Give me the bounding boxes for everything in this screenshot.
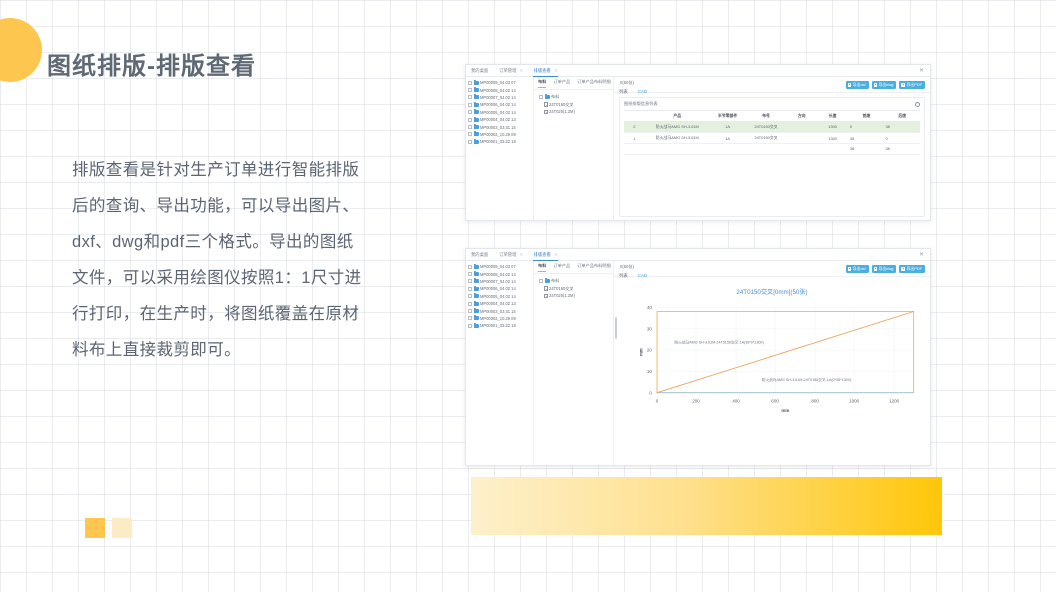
fabric-tree-top: 布料 24T0150交叉 24T020(1.2M) — [534, 90, 613, 116]
file-icon — [544, 102, 548, 107]
app-tab-desktop[interactable]: 我的桌面 — [470, 65, 489, 76]
expand-icon[interactable] — [468, 294, 472, 298]
expand-icon[interactable] — [468, 95, 472, 99]
chart-annotation-lower: 防火战马AMG SH-3.61M-24T0150交叉-1A(0*38*1300) — [762, 377, 851, 382]
x-tick-600: 600 — [771, 399, 779, 404]
export-pdf-button[interactable]: 导出PDF — [899, 265, 925, 273]
app-tabbar-bottom: 我的桌面 订单管理 × 排版查看 × — [466, 249, 930, 261]
table-row[interactable]: 1 防火战马AMG SH-3.61M 1A 24T0150交叉 1300 38 … — [624, 132, 920, 143]
cell-fabric-no: 24T0150交叉 — [745, 132, 786, 143]
expand-icon[interactable] — [539, 279, 543, 283]
list-item-label: MP00007_04.02 14 — [480, 279, 516, 284]
list-item[interactable]: MP00007_04.02 14 — [468, 278, 533, 285]
list-item[interactable]: MP00004_04.02 13 — [468, 300, 533, 307]
layout-table: 产品 半节零部件 布号 方向 长度 前废 后废 2 防火战马AMG SH-3.6 — [624, 110, 920, 155]
export-dwg-button[interactable]: 导出dwg — [872, 81, 897, 89]
fabric-tabs-bottom: 布料 订单产品 订单产品布料明细 — [534, 261, 613, 274]
expand-icon[interactable] — [468, 118, 472, 122]
y-axis-label: mm — [639, 348, 644, 356]
th-back-waste: 后废 — [884, 110, 920, 121]
app-tab-label: 我的桌面 — [471, 68, 488, 73]
y-tick-20: 20 — [647, 348, 653, 353]
cell-direction — [787, 144, 817, 154]
tab-fabric[interactable]: 布料 — [538, 263, 546, 271]
folder-icon — [474, 302, 479, 306]
folder-icon — [474, 324, 479, 328]
panel-body-bottom: MP00009_04.03 07 MP00008_04.02 14 MP0000… — [466, 261, 930, 465]
expand-icon[interactable] — [468, 324, 472, 328]
tree-child[interactable]: 24T020(1.2M) — [539, 292, 613, 299]
th-length: 长度 — [816, 110, 849, 121]
list-item[interactable]: MP00001_03.22 18 — [468, 322, 533, 329]
tab-order-product[interactable]: 订单产品 — [553, 263, 570, 271]
tab-list-view[interactable]: 列表 — [619, 89, 628, 95]
decorative-square-solid — [85, 518, 105, 538]
expand-icon[interactable] — [468, 309, 472, 313]
cell-index — [624, 144, 645, 154]
app-tab-layout-view[interactable]: 排版查看 × — [533, 65, 558, 76]
th-fabric-no: 布号 — [745, 110, 786, 121]
app-tab-order-mgmt[interactable]: 订单管理 × — [498, 249, 523, 260]
decorative-square-pale — [112, 518, 132, 538]
list-item-label: MP00004_04.02 13 — [480, 117, 516, 122]
expand-icon[interactable] — [468, 316, 472, 320]
folder-icon — [474, 95, 479, 99]
close-icon[interactable]: × — [554, 252, 557, 257]
x-tick-0: 0 — [656, 399, 659, 404]
cell-back-waste: 0 — [884, 132, 920, 143]
folder-icon — [474, 118, 479, 122]
sheet-count-label: 0(50张) — [620, 264, 634, 270]
list-item-label: MP00006_04.02 14 — [480, 286, 516, 291]
cell-part — [710, 144, 746, 154]
folder-icon — [474, 316, 479, 320]
folder-icon — [474, 125, 479, 129]
cell-direction — [787, 132, 817, 143]
expand-icon[interactable] — [468, 110, 472, 114]
expand-icon[interactable] — [468, 272, 472, 276]
list-item[interactable]: MP00001_03.22 18 — [468, 138, 533, 145]
chart-svg: 40 30 20 10 0 0 200 400 600 800 1000 120… — [618, 296, 926, 414]
list-item[interactable]: MP00009_04.03 07 — [468, 79, 533, 86]
export-pdf-button[interactable]: 导出PDF — [899, 81, 925, 89]
th-part: 半节零部件 — [710, 110, 746, 121]
export-pdf-label: 导出PDF — [906, 83, 922, 87]
folder-icon — [474, 287, 479, 291]
close-icon[interactable]: × — [520, 252, 523, 257]
folder-icon — [474, 110, 479, 114]
expand-icon[interactable] — [468, 81, 472, 85]
folder-icon — [474, 81, 479, 85]
folder-icon — [545, 279, 550, 283]
folder-icon — [474, 265, 479, 269]
chart-annotation-upper: 防火战马AMG SH-3.61M-24T0150交叉-1A(38*0*1300) — [674, 340, 763, 345]
list-item[interactable]: MP00003_03.31 15 — [468, 123, 533, 130]
list-item[interactable]: MP00005_04.02 14 — [468, 109, 533, 116]
folder-icon — [474, 140, 479, 144]
export-dxf-button[interactable]: 导出dxf — [846, 81, 869, 89]
folder-icon — [474, 294, 479, 298]
th-front-waste: 前废 — [849, 110, 885, 121]
table-total-row: 38 38 — [624, 144, 920, 154]
cell-back-waste: 38 — [884, 121, 920, 132]
cell-length: 1300 — [816, 121, 849, 132]
file-icon — [544, 294, 548, 299]
cell-front-waste: 38 — [849, 132, 885, 143]
expand-icon[interactable] — [468, 140, 472, 144]
order-tree-list-top[interactable]: MP00009_04.03 07 MP00008_04.02 14 MP0000… — [466, 77, 534, 220]
list-item-label: MP00002_10.29 09 — [480, 316, 516, 321]
table-header-row: 产品 半节零部件 布号 方向 长度 前废 后废 — [624, 110, 920, 121]
app-tab-label: 排版查看 — [534, 252, 551, 257]
list-item[interactable]: MP00004_04.02 13 — [468, 116, 533, 123]
cell-back-waste-total: 38 — [884, 144, 920, 154]
sheet-count-label: 0(50张) — [620, 80, 634, 86]
list-item-label: MP00008_04.02 14 — [480, 88, 516, 93]
expand-icon[interactable] — [468, 103, 472, 107]
tree-root-label: 布料 — [551, 94, 559, 100]
order-tree-list-bottom[interactable]: MP00009_04.03 07 MP00008_04.02 14 MP0000… — [466, 261, 534, 465]
cell-product: 防火战马AMG SH-3.61M — [645, 132, 710, 143]
tree-root-label: 布料 — [551, 278, 559, 284]
fabric-tree-bottom: 布料 24T0150交叉 24T020(1.2M) — [534, 274, 613, 300]
cell-product: 防火战马AMG SH-3.61M — [645, 121, 710, 132]
list-item-label: MP00001_03.22 18 — [480, 323, 516, 328]
export-dxf-label: 导出dxf — [853, 267, 866, 271]
list-item-label: MP00003_03.31 15 — [480, 309, 516, 314]
table-row[interactable]: 2 防火战马AMG SH-3.61M 1A 24T0150交叉 1300 0 3… — [624, 121, 920, 132]
tree-child-label: 24T0150交叉 — [549, 102, 573, 108]
close-icon[interactable]: × — [520, 68, 523, 73]
x-tick-400: 400 — [732, 399, 740, 404]
app-tab-layout-view[interactable]: 排版查看 × — [533, 249, 558, 260]
app-tab-label: 排版查看 — [534, 68, 551, 73]
tree-child-label: 24T020(1.2M) — [549, 109, 575, 114]
list-item[interactable]: MP00008_04.02 14 — [468, 270, 533, 277]
y-tick-40: 40 — [647, 305, 653, 310]
expand-icon[interactable] — [468, 287, 472, 291]
fabric-tabs-top: 布料 订单产品 订单产品布料明细 — [534, 77, 613, 90]
panel-body-top: MP00009_04.03 07 MP00008_04.02 14 MP0000… — [466, 77, 930, 220]
export-icon — [848, 83, 852, 87]
export-dwg-label: 导出dwg — [879, 267, 894, 271]
view-tabs-top: 列表 CAD — [619, 89, 647, 95]
tree-child-label: 24T0150交叉 — [549, 286, 573, 292]
expand-icon[interactable] — [468, 302, 472, 306]
close-icon[interactable]: × — [554, 68, 557, 73]
expand-icon[interactable] — [468, 265, 472, 269]
app-tab-label: 订单管理 — [499, 68, 516, 73]
list-item[interactable]: MP00009_04.03 07 — [468, 263, 533, 270]
list-item-label: MP00003_03.31 15 — [480, 125, 516, 130]
expand-icon[interactable] — [539, 95, 543, 99]
x-tick-200: 200 — [692, 399, 700, 404]
list-item[interactable]: MP00002_10.29 09 — [468, 315, 533, 322]
th-product: 产品 — [645, 110, 710, 121]
list-item-label: MP00004_04.02 13 — [480, 301, 516, 306]
list-item-label: MP00009_04.03 07 — [480, 80, 516, 85]
export-icon — [848, 267, 852, 271]
list-item-label: MP00001_03.22 18 — [480, 139, 516, 144]
tree-child[interactable]: 24T0150交叉 — [539, 285, 613, 292]
list-item-label: MP00009_04.03 07 — [480, 264, 516, 269]
app-tab-desktop[interactable]: 我的桌面 — [470, 249, 489, 260]
chart-title: 24T0150交叉[0mm](50张) — [618, 287, 926, 296]
gear-icon[interactable] — [915, 102, 920, 107]
export-icon — [901, 267, 905, 271]
cell-index: 2 — [624, 121, 645, 132]
y-tick-10: 10 — [647, 369, 653, 374]
list-item[interactable]: MP00006_04.02 14 — [468, 285, 533, 292]
fabric-panel-bottom: 布料 订单产品 订单产品布料明细 布料 24T0150交叉 24T020(1.2… — [534, 261, 614, 465]
tab-cad-view[interactable]: CAD — [638, 89, 647, 95]
th-direction: 方向 — [787, 110, 817, 121]
folder-icon — [474, 132, 479, 136]
tree-child-label: 24T020(1.2M) — [549, 293, 575, 298]
file-icon — [544, 110, 548, 115]
tree-root[interactable]: 布料 — [539, 278, 613, 285]
screenshot-panel-bottom: 我的桌面 订单管理 × 排版查看 × ✕ MP00009_04.03 07 MP… — [465, 248, 931, 466]
tree-child[interactable]: 24T020(1.2M) — [539, 108, 613, 115]
tab-fabric[interactable]: 布料 — [538, 79, 546, 87]
export-dxf-button[interactable]: 导出dxf — [846, 265, 869, 273]
export-dwg-label: 导出dwg — [879, 83, 894, 87]
decorative-circle — [0, 18, 42, 82]
vertical-scrollbar[interactable] — [615, 317, 617, 339]
list-item[interactable]: MP00008_04.02 14 — [468, 86, 533, 93]
body-paragraph: 排版查看是针对生产订单进行智能排版后的查询、导出功能，可以导出图片、dxf、dw… — [72, 152, 370, 368]
file-icon — [544, 286, 548, 291]
cell-length: 1300 — [816, 132, 849, 143]
decorative-yellow-bar — [471, 477, 942, 535]
export-dwg-button[interactable]: 导出dwg — [872, 265, 897, 273]
cell-part: 1A — [710, 121, 746, 132]
expand-icon[interactable] — [468, 132, 472, 136]
table-caption: 图纸排版信息列表 — [624, 101, 658, 107]
cell-fabric-no: 24T0150交叉 — [745, 121, 786, 132]
tab-order-product-fabric-detail[interactable]: 订单产品布料明细 — [577, 263, 611, 271]
cell-index: 1 — [624, 132, 645, 143]
folder-icon — [474, 88, 479, 92]
export-dxf-label: 导出dxf — [853, 83, 866, 87]
page-title: 图纸排版-排版查看 — [47, 46, 256, 81]
list-item-label: MP00002_10.29 09 — [480, 132, 516, 137]
export-icon — [874, 267, 878, 271]
folder-icon — [474, 272, 479, 276]
cad-view-bottom: 导出dxf 导出dwg 导出PDF 0(50张) 列表 CAD 24T0150交… — [614, 261, 930, 465]
table-caption-row: 图纸排版信息列表 — [624, 101, 920, 110]
tab-list-view[interactable]: 列表 — [619, 273, 628, 279]
cell-product — [645, 144, 710, 154]
expand-icon[interactable] — [468, 125, 472, 129]
tab-order-product[interactable]: 订单产品 — [553, 79, 570, 87]
layout-detail-top: 导出dxf 导出dwg 导出PDF 0(50张) 列表 CAD 图纸排版信息列表 — [614, 77, 930, 220]
list-item-label: MP00008_04.02 14 — [480, 272, 516, 277]
list-item[interactable]: MP00006_04.02 14 — [468, 101, 533, 108]
list-item-label: MP00005_04.02 14 — [480, 294, 516, 299]
export-icon — [874, 83, 878, 87]
x-tick-800: 800 — [811, 399, 819, 404]
cell-direction — [787, 121, 817, 132]
export-icon — [901, 83, 905, 87]
list-item-label: MP00007_04.02 14 — [480, 95, 516, 100]
app-tab-label: 订单管理 — [499, 252, 516, 257]
folder-icon — [545, 95, 550, 99]
export-pdf-label: 导出PDF — [906, 267, 922, 271]
tab-order-product-fabric-detail[interactable]: 订单产品布料明细 — [577, 79, 611, 87]
list-item-label: MP00006_04.02 14 — [480, 102, 516, 107]
list-item-label: MP00005_04.02 14 — [480, 110, 516, 115]
x-tick-1000: 1000 — [849, 399, 860, 404]
layout-table-card: 图纸排版信息列表 产品 半节零部件 布号 方向 长度 前废 后废 — [619, 97, 925, 217]
app-tab-order-mgmt[interactable]: 订单管理 × — [498, 65, 523, 76]
panel-close-icon[interactable]: ✕ — [918, 68, 925, 75]
cell-length — [816, 144, 849, 154]
layout-chart: 24T0150交叉[0mm](50张) — [618, 283, 926, 461]
list-item[interactable]: MP00005_04.02 14 — [468, 293, 533, 300]
list-item[interactable]: MP00003_03.31 15 — [468, 307, 533, 314]
view-tabs-bottom: 列表 CAD — [619, 273, 647, 279]
y-tick-30: 30 — [647, 327, 653, 332]
y-tick-0: 0 — [649, 390, 652, 395]
cell-part: 1A — [710, 132, 746, 143]
panel-close-icon[interactable]: ✕ — [918, 252, 925, 259]
cell-front-waste: 0 — [849, 121, 885, 132]
export-toolbar: 导出dxf 导出dwg 导出PDF — [614, 261, 930, 277]
app-tab-label: 我的桌面 — [471, 252, 488, 257]
app-tabbar-top: 我的桌面 订单管理 × 排版查看 × — [466, 65, 930, 77]
expand-icon[interactable] — [468, 88, 472, 92]
tab-cad-view[interactable]: CAD — [638, 273, 647, 279]
screenshot-panel-top: 我的桌面 订单管理 × 排版查看 × ✕ MP00009_04.03 07 MP… — [465, 64, 931, 221]
fabric-panel-top: 布料 订单产品 订单产品布料明细 布料 24T0150交叉 24T020(1.2… — [534, 77, 614, 220]
expand-icon[interactable] — [468, 279, 472, 283]
x-axis-label: mm — [781, 408, 789, 413]
folder-icon — [474, 279, 479, 283]
list-item[interactable]: MP00007_04.02 14 — [468, 94, 533, 101]
cell-fabric-no — [745, 144, 786, 154]
x-tick-1200: 1200 — [889, 399, 900, 404]
export-toolbar: 导出dxf 导出dwg 导出PDF — [614, 77, 930, 93]
tree-child[interactable]: 24T0150交叉 — [539, 101, 613, 108]
tree-root[interactable]: 布料 — [539, 94, 613, 101]
folder-icon — [474, 309, 479, 313]
list-item[interactable]: MP00002_10.29 09 — [468, 131, 533, 138]
th-index — [624, 110, 645, 121]
cell-front-waste-total: 38 — [849, 144, 885, 154]
folder-icon — [474, 103, 479, 107]
